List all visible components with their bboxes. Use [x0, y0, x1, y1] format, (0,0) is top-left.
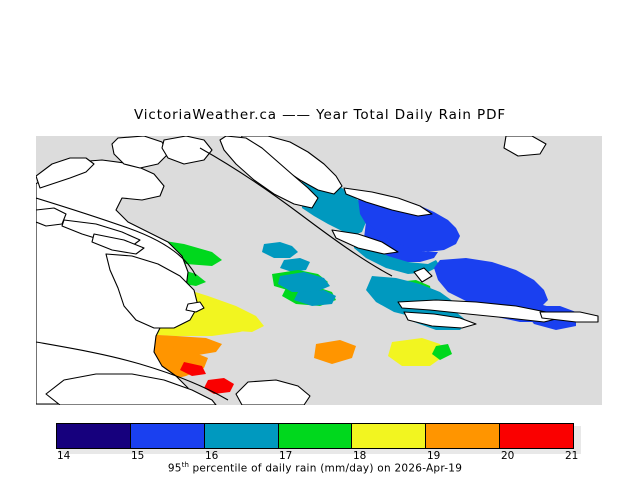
colorbar-band-16-17[interactable]	[204, 424, 278, 448]
caption-rest: percentile of daily rain (mm/day) on 202…	[189, 463, 462, 475]
map-canvas[interactable]	[36, 136, 602, 405]
colorbar-band-19-20[interactable]	[425, 424, 499, 448]
colorbar-band-15-16[interactable]	[130, 424, 204, 448]
colorbar-bands[interactable]	[56, 423, 574, 449]
colorbar-band-17-18[interactable]	[278, 424, 352, 448]
caption-percentile-number: 95	[168, 463, 182, 475]
colorbar-band-20-21[interactable]	[499, 424, 573, 448]
caption-percentile-suffix: th	[182, 461, 189, 469]
colorbar[interactable]: 14 15 16 17 18 19 20 21 95th percentile …	[56, 423, 586, 473]
colorbar-band-14-15[interactable]	[57, 424, 130, 448]
map-panel[interactable]	[36, 136, 602, 405]
page-title: VictoriaWeather.ca —— Year Total Daily R…	[0, 107, 640, 123]
weather-map-page: VictoriaWeather.ca —— Year Total Daily R…	[0, 0, 640, 480]
colorbar-caption: 95th percentile of daily rain (mm/day) o…	[56, 461, 574, 475]
colorbar-band-18-19[interactable]	[351, 424, 425, 448]
